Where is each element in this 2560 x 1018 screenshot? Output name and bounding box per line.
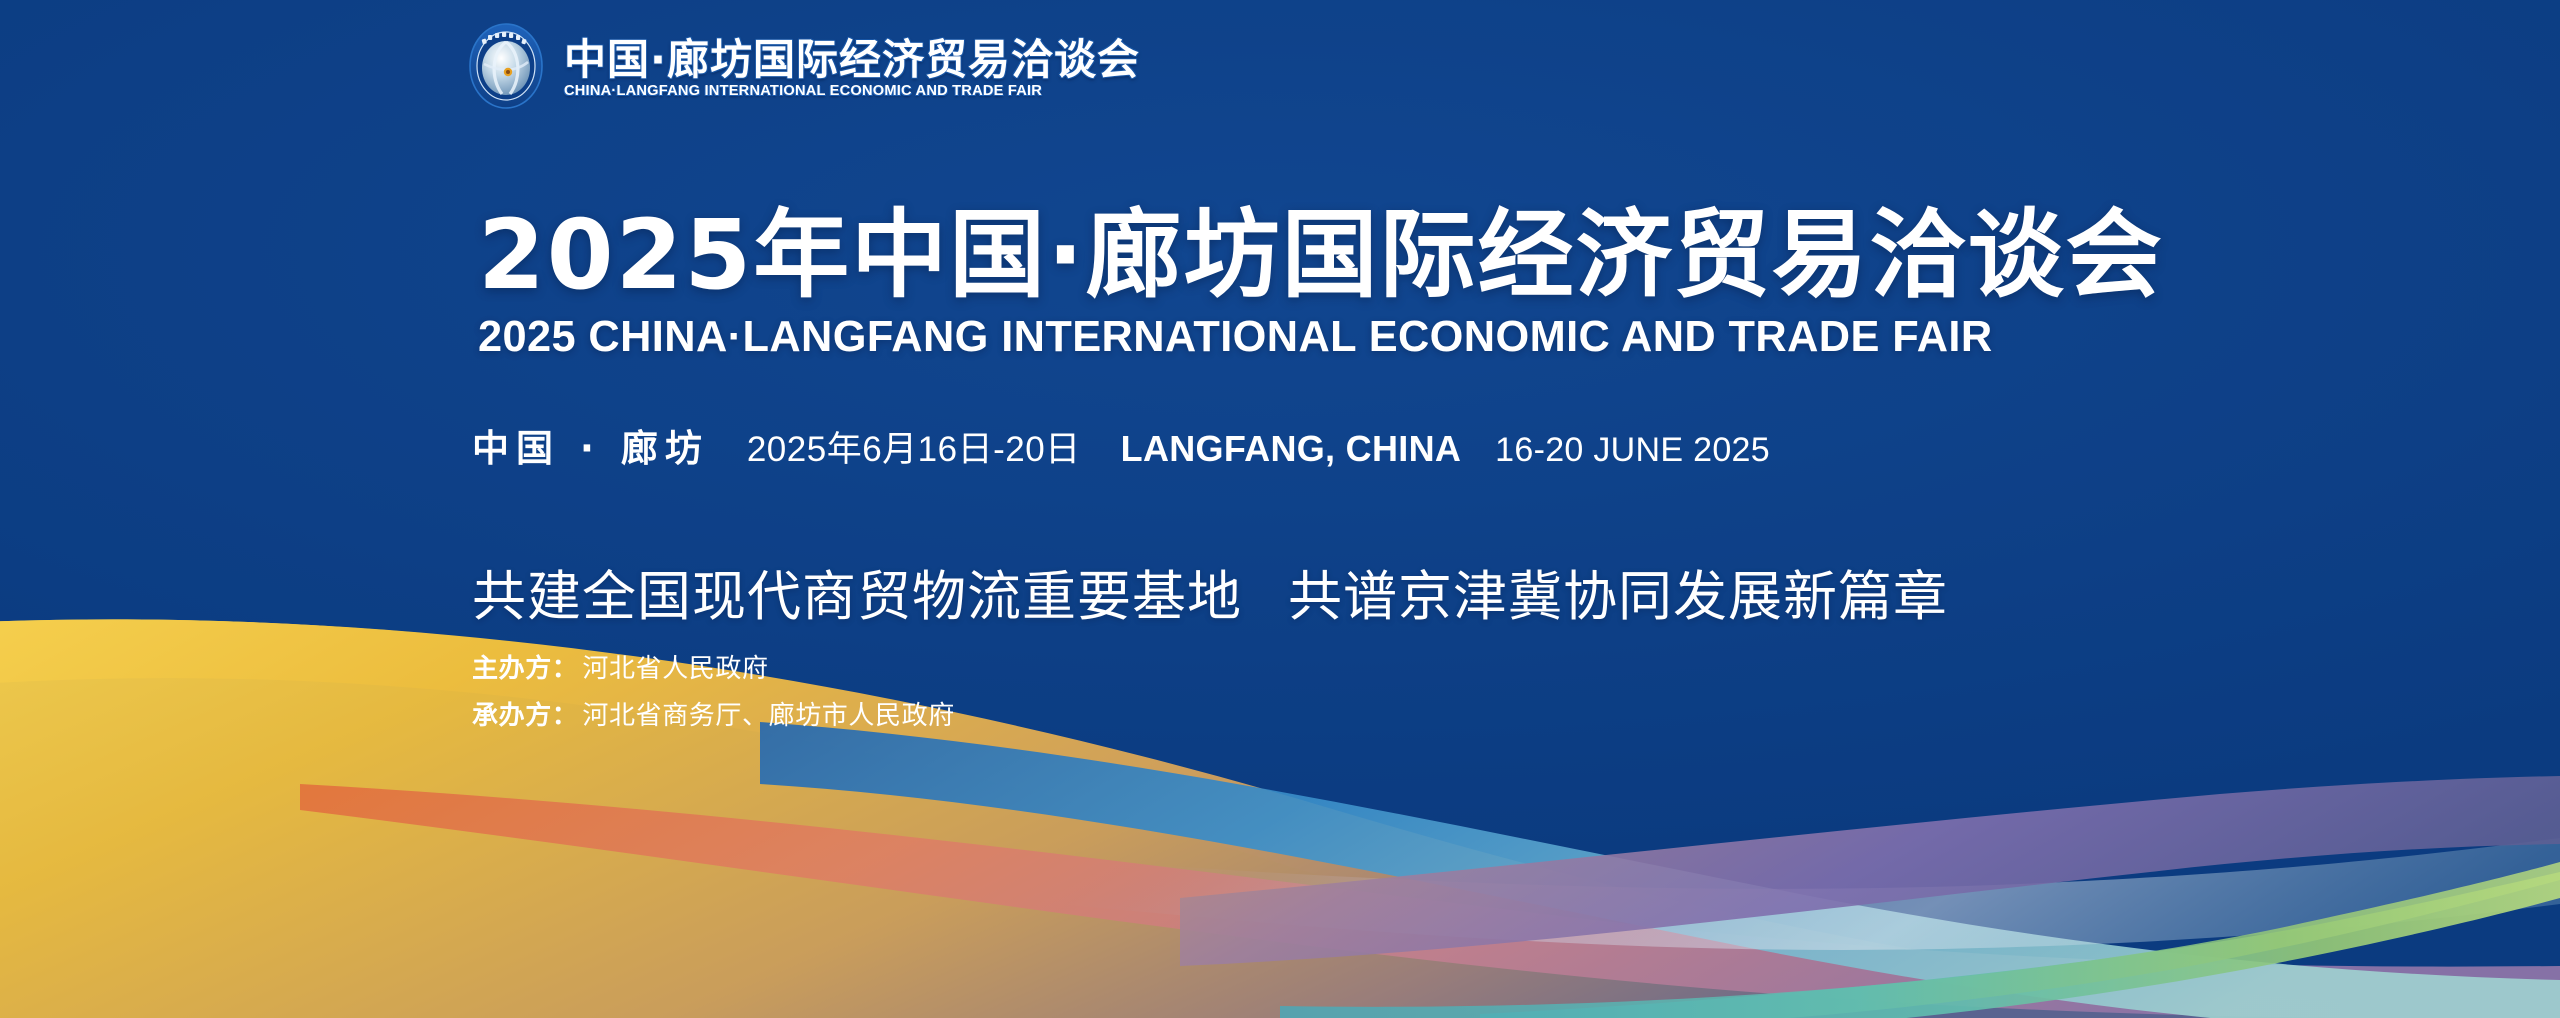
event-place-cn: 中国 · 廊坊 [472, 418, 709, 472]
event-title-en: 2025 CHINA·LANGFANG INTERNATIONAL ECONOM… [478, 312, 2153, 362]
event-meta-line: 中国 · 廊坊 2025年6月16日-20日 LANGFANG, CHINA 1… [472, 418, 1770, 472]
background-sheen [0, 0, 2560, 1018]
organizers-block: 主办方： 河北省人民政府 承办方： 河北省商务厅、廊坊市人民政府 [472, 648, 955, 742]
event-title-cn: 2025年中国·廊坊国际经济贸易洽谈会 [478, 206, 2178, 306]
logo-wordmark-cn: 中国·廊坊国际经济贸易洽谈会 [564, 39, 1140, 82]
organizer-value: 河北省人民政府 [582, 648, 768, 685]
event-place-en: LANGFANG, CHINA [1121, 428, 1462, 470]
event-banner: 中国·廊坊国际经济贸易洽谈会 CHINA·LANGFANG INTERNATIO… [0, 0, 2560, 1018]
fair-logo-lockup: 中国·廊坊国际经济贸易洽谈会 CHINA·LANGFANG INTERNATIO… [462, 22, 1140, 110]
slogan-part-2: 共谱京津冀协同发展新篇章 [1288, 565, 1948, 628]
event-date-en: 16-20 JUNE 2025 [1495, 431, 1770, 470]
organizer-value: 河北省商务厅、廊坊市人民政府 [582, 695, 954, 732]
globe-emblem-icon [462, 22, 550, 110]
logo-wordmark: 中国·廊坊国际经济贸易洽谈会 CHINA·LANGFANG INTERNATIO… [564, 33, 1140, 99]
event-date-cn: 2025年6月16日-20日 [747, 421, 1081, 472]
organizer-label: 承办方： [472, 695, 578, 732]
organizer-row: 主办方： 河北省人民政府 [472, 648, 955, 685]
organizer-row: 承办方： 河北省商务厅、廊坊市人民政府 [472, 695, 955, 732]
slogan-part-1: 共建全国现代商贸物流重要基地 [472, 565, 1242, 628]
organizer-label: 主办方： [472, 648, 578, 685]
headline-block: 2025年中国·廊坊国际经济贸易洽谈会 2025 CHINA·LANGFANG … [478, 206, 2178, 362]
logo-wordmark-en: CHINA·LANGFANG INTERNATIONAL ECONOMIC AN… [564, 83, 1146, 99]
event-slogan: 共建全国现代商贸物流重要基地共谱京津冀协同发展新篇章 [472, 552, 1948, 631]
